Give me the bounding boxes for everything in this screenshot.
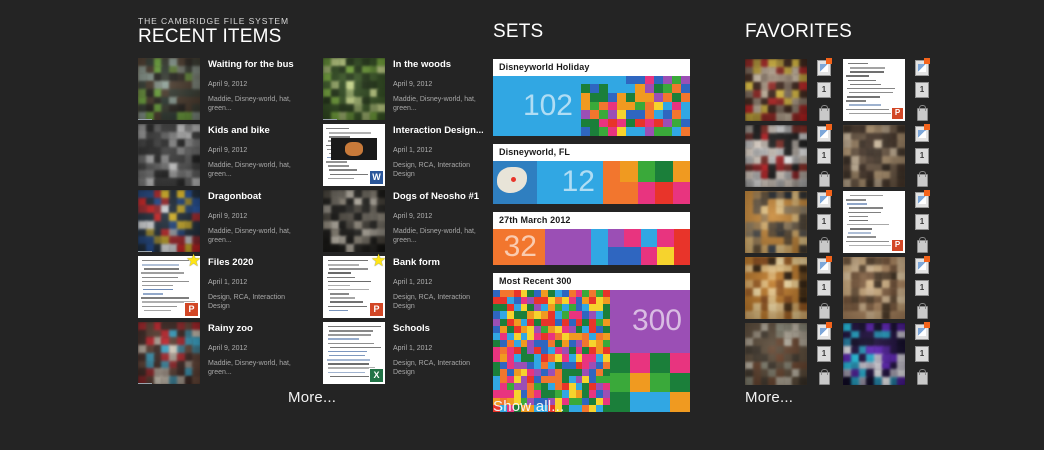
powerpoint-file-icon: P [891, 239, 904, 252]
tag-icon[interactable] [915, 104, 929, 120]
recent-item-tags: Design, RCA, Interaction Design [393, 161, 483, 180]
recent-item-title[interactable]: Dragonboat [208, 191, 298, 202]
set-mosaic [603, 161, 690, 204]
version-count-icon[interactable]: 1 [817, 148, 831, 164]
recent-item-date: April 1, 2012 [393, 279, 483, 287]
recent-item-thumbnail[interactable] [138, 322, 200, 384]
recent-item-thumbnail[interactable] [138, 190, 200, 252]
recent-item[interactable]: WInteraction Design...April 1, 2012Desig… [323, 124, 483, 186]
version-count-icon[interactable]: 1 [915, 346, 929, 362]
recent-items-column: THE CAMBRIDGE FILE SYSTEM RECENT ITEMS W… [138, 16, 483, 384]
set-count-panel: 32 [493, 229, 545, 265]
favorite-thumbnail[interactable] [745, 59, 807, 121]
thumbnail-image [843, 257, 905, 319]
set-accent-panel [545, 229, 591, 265]
powerpoint-file-icon: P [184, 302, 199, 317]
set-tile-title: Most Recent 300 [493, 273, 690, 290]
tag-icon[interactable] [915, 368, 929, 384]
favorites-more-link[interactable]: More... [745, 389, 793, 406]
favorite-badge-column: 1 [915, 257, 931, 319]
recent-item-date: April 9, 2012 [208, 81, 298, 89]
edit-pencil-icon[interactable] [817, 192, 831, 208]
thumbnail-image [138, 322, 200, 384]
excel-file-icon: X [369, 368, 384, 383]
recent-item-title[interactable]: Rainy zoo [208, 323, 298, 334]
favorite-star-icon[interactable]: ★ [371, 252, 386, 269]
recent-item-title[interactable]: Bank form [393, 257, 483, 268]
favorite-badge-column: 1 [817, 125, 833, 187]
version-count-icon[interactable]: 1 [915, 214, 929, 230]
favorite-badge-column: 1 [817, 323, 833, 385]
sets-list: Disneyworld Holiday102Disneyworld, FL122… [493, 59, 693, 412]
tag-icon[interactable] [915, 236, 929, 252]
recent-item-title[interactable]: Schools [393, 323, 483, 334]
tag-icon[interactable] [817, 104, 831, 120]
recent-item[interactable]: PFiles 2020April 1, 2012Design, RCA, Int… [138, 256, 298, 318]
version-count-icon[interactable]: 1 [817, 280, 831, 296]
map-location-icon [138, 119, 152, 120]
favorite-thumbnail[interactable] [745, 257, 807, 319]
recent-item-thumbnail[interactable] [323, 190, 385, 252]
edit-pencil-icon[interactable] [915, 126, 929, 142]
edit-pencil-icon[interactable] [817, 324, 831, 340]
set-mosaic [581, 76, 690, 136]
recent-item-date: April 1, 2012 [393, 345, 483, 353]
favorites-column: FAVORITES 1P1111P11111 [745, 22, 1044, 385]
recent-item-thumbnail[interactable] [323, 58, 385, 120]
recent-item-date: April 1, 2012 [208, 279, 298, 287]
thumbnail-image [843, 323, 905, 385]
favorite-thumbnail[interactable] [843, 323, 905, 385]
favorite-thumbnail[interactable] [745, 125, 807, 187]
tag-icon[interactable] [817, 236, 831, 252]
favorite-star-icon[interactable]: ★ [186, 252, 201, 269]
map-location-icon [138, 383, 152, 384]
recent-item-tags: Maddie, Disney-world, hat, green... [208, 161, 298, 180]
version-count-icon[interactable]: 1 [915, 82, 929, 98]
version-count-icon[interactable]: 1 [915, 280, 929, 296]
recent-item-date: April 9, 2012 [208, 345, 298, 353]
version-count-icon[interactable]: 1 [915, 148, 929, 164]
set-mosaic [610, 353, 690, 412]
favorite-badge-column: 1 [915, 125, 931, 187]
thumbnail-image [323, 190, 385, 252]
thumbnail-image [138, 124, 200, 186]
set-count-panel: 102 [493, 76, 581, 136]
recent-item[interactable]: XSchoolsApril 1, 2012Design, RCA, Intera… [323, 322, 483, 384]
edit-pencil-icon[interactable] [817, 60, 831, 76]
tag-icon[interactable] [817, 302, 831, 318]
thumbnail-image [745, 323, 807, 385]
sets-column: SETS Disneyworld Holiday102Disneyworld, … [493, 22, 693, 412]
recent-item-tags: Design, RCA, Interaction Design [208, 293, 298, 312]
map-location-icon [138, 251, 152, 252]
powerpoint-file-icon: P [891, 107, 904, 120]
set-tile[interactable]: Disneyworld Holiday102 [493, 59, 690, 136]
sets-title: SETS [493, 22, 693, 43]
version-count-icon[interactable]: 1 [817, 82, 831, 98]
recent-item-title[interactable]: Dogs of Neosho #1 [393, 191, 483, 202]
recent-item-thumbnail[interactable]: W [323, 124, 385, 186]
thumbnail-image [745, 125, 807, 187]
recent-item[interactable]: Waiting for the busApril 9, 2012Maddie, … [138, 58, 298, 120]
set-item-count: 12 [562, 167, 595, 197]
edit-pencil-icon[interactable] [915, 60, 929, 76]
favorite-badge-column: 1 [817, 257, 833, 319]
sets-show-all-link[interactable]: Show all... [493, 398, 564, 415]
recent-item-tags: Maddie, Disney-world, hat, green... [393, 95, 483, 114]
thumbnail-image [138, 58, 200, 120]
map-location-icon [323, 119, 337, 120]
edit-pencil-icon[interactable] [915, 192, 929, 208]
recent-item-title[interactable]: Files 2020 [208, 257, 298, 268]
version-count-icon[interactable]: 1 [817, 346, 831, 362]
set-tile-title: Disneyworld, FL [493, 144, 690, 161]
thumbnail-image [138, 190, 200, 252]
powerpoint-file-icon: P [369, 302, 384, 317]
recent-item-tags: Design, RCA, Interaction Design [393, 359, 483, 378]
favorites-grid: 1P1111P11111 [745, 59, 1044, 385]
favorite-thumbnail[interactable]: P [843, 59, 905, 121]
favorite-thumbnail[interactable]: P [843, 191, 905, 253]
recent-item-thumbnail[interactable] [138, 58, 200, 120]
set-mosaic [591, 229, 690, 265]
set-map-preview [493, 161, 537, 204]
recent-item-date: April 9, 2012 [393, 213, 483, 221]
recent-item-title[interactable]: Waiting for the bus [208, 59, 298, 70]
recent-item-thumbnail[interactable] [138, 124, 200, 186]
version-count-icon[interactable]: 1 [817, 214, 831, 230]
tag-icon[interactable] [915, 170, 929, 186]
recent-more-link[interactable]: More... [288, 389, 336, 406]
set-tile-body[interactable]: 32 [493, 229, 690, 265]
set-tile[interactable]: Most Recent 300300 [493, 273, 690, 412]
set-tile-title: 27th March 2012 [493, 212, 690, 229]
edit-pencil-icon[interactable] [915, 324, 929, 340]
tag-icon[interactable] [915, 302, 929, 318]
tag-icon[interactable] [817, 368, 831, 384]
set-tile-body[interactable]: 300 [493, 290, 690, 412]
set-tile-body[interactable]: 102 [493, 76, 690, 136]
recent-item[interactable]: Dogs of Neosho #1April 9, 2012Maddie, Di… [323, 190, 483, 252]
recent-item-tags: Maddie, Disney-world, hat, green... [208, 95, 298, 114]
favorite-thumbnail[interactable] [745, 323, 807, 385]
set-tile-title: Disneyworld Holiday [493, 59, 690, 76]
recent-item-tags: Maddie, Disney-world, hat, green... [208, 227, 298, 246]
set-item-count: 300 [632, 306, 682, 336]
thumbnail-image [745, 59, 807, 121]
recent-item-thumbnail[interactable]: X [323, 322, 385, 384]
recent-item[interactable]: DragonboatApril 9, 2012Maddie, Disney-wo… [138, 190, 298, 252]
thumbnail-image [843, 125, 905, 187]
set-tile[interactable]: 27th March 201232 [493, 212, 690, 265]
recent-item-title[interactable]: Interaction Design... [393, 125, 483, 136]
recent-item-title[interactable]: In the woods [393, 59, 483, 70]
app-eyebrow: THE CAMBRIDGE FILE SYSTEM [138, 16, 483, 26]
favorites-title: FAVORITES [745, 22, 1044, 43]
favorite-badge-column: 1 [915, 59, 931, 121]
edit-pencil-icon[interactable] [817, 258, 831, 274]
favorite-thumbnail[interactable] [843, 257, 905, 319]
set-tile[interactable]: Disneyworld, FL12 [493, 144, 690, 204]
tag-icon[interactable] [817, 170, 831, 186]
favorite-badge-column: 1 [915, 191, 931, 253]
recent-item-date: April 9, 2012 [393, 81, 483, 89]
recent-item-title[interactable]: Kids and bike [208, 125, 298, 136]
favorite-badge-column: 1 [817, 191, 833, 253]
favorite-badge-column: 1 [915, 323, 931, 385]
recent-item[interactable]: In the woodsApril 9, 2012Maddie, Disney-… [323, 58, 483, 120]
recent-item-date: April 9, 2012 [208, 213, 298, 221]
set-item-count: 102 [523, 91, 573, 121]
edit-pencil-icon[interactable] [817, 126, 831, 142]
recent-item-tags: Maddie, Disney-world, hat, green... [208, 359, 298, 378]
recent-item[interactable]: PBank formApril 1, 2012Design, RCA, Inte… [323, 256, 483, 318]
recent-item-tags: Maddie, Disney-world, hat, green... [393, 227, 483, 246]
recent-item[interactable]: Kids and bikeApril 9, 2012Maddie, Disney… [138, 124, 298, 186]
favorite-thumbnail[interactable] [745, 191, 807, 253]
recent-items-grid: Waiting for the busApril 9, 2012Maddie, … [138, 58, 483, 384]
word-file-icon: W [369, 170, 384, 185]
recent-items-title: RECENT ITEMS [138, 27, 483, 48]
favorite-badge-column: 1 [817, 59, 833, 121]
set-tile-body[interactable]: 12 [493, 161, 690, 204]
app-root: THE CAMBRIDGE FILE SYSTEM RECENT ITEMS W… [0, 0, 1044, 450]
recent-item-date: April 1, 2012 [393, 147, 483, 155]
favorite-thumbnail[interactable] [843, 125, 905, 187]
set-mosaic [493, 290, 610, 412]
thumbnail-image [745, 257, 807, 319]
recent-item-date: April 9, 2012 [208, 147, 298, 155]
edit-pencil-icon[interactable] [915, 258, 929, 274]
recent-item-tags: Design, RCA, Interaction Design [393, 293, 483, 312]
thumbnail-image [323, 58, 385, 120]
set-item-count: 32 [504, 232, 537, 262]
recent-item[interactable]: Rainy zooApril 9, 2012Maddie, Disney-wor… [138, 322, 298, 384]
thumbnail-image [745, 191, 807, 253]
